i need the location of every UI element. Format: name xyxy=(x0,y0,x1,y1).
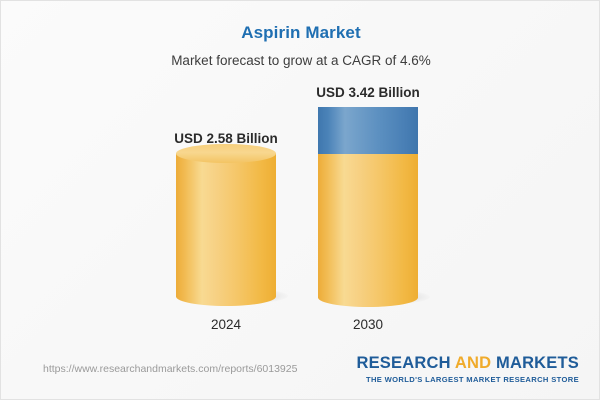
cylinder-2030[interactable] xyxy=(318,107,418,298)
report-url[interactable]: https://www.researchandmarkets.com/repor… xyxy=(43,363,297,375)
research-and-markets-logo[interactable]: RESEARCH AND MARKETS THE WORLD'S LARGEST… xyxy=(356,354,579,384)
logo-word-research: RESEARCH xyxy=(356,354,454,372)
cylinder-segment-base xyxy=(176,153,276,297)
cylinder-body xyxy=(318,154,418,298)
cylinder-bottom-cap xyxy=(176,287,276,306)
cylinder-segment-base xyxy=(318,154,418,298)
bar-group-2024: USD 2.58 Billion xyxy=(156,131,296,297)
footer: https://www.researchandmarkets.com/repor… xyxy=(1,347,600,399)
cylinder-bottom-cap xyxy=(318,288,418,307)
logo-word-markets: MARKETS xyxy=(491,354,579,372)
plot-area: USD 2.58 Billion USD 3.42 Billion xyxy=(1,1,600,346)
logo-word-and: AND xyxy=(455,354,491,372)
logo-wordmark: RESEARCH AND MARKETS xyxy=(356,354,579,373)
chart-card: Aspirin Market Market forecast to grow a… xyxy=(0,0,600,400)
logo-tagline: THE WORLD'S LARGEST MARKET RESEARCH STOR… xyxy=(356,375,579,384)
x-tick-label-2030: 2030 xyxy=(298,317,438,332)
cylinder-segment-growth xyxy=(318,107,418,154)
cylinder-body xyxy=(176,153,276,297)
bar-group-2030: USD 3.42 Billion xyxy=(298,85,438,298)
cylinder-top-cap xyxy=(176,144,276,163)
cylinder-top-cap xyxy=(318,98,418,117)
x-tick-label-2024: 2024 xyxy=(156,317,296,332)
cylinder-2024[interactable] xyxy=(176,153,276,297)
